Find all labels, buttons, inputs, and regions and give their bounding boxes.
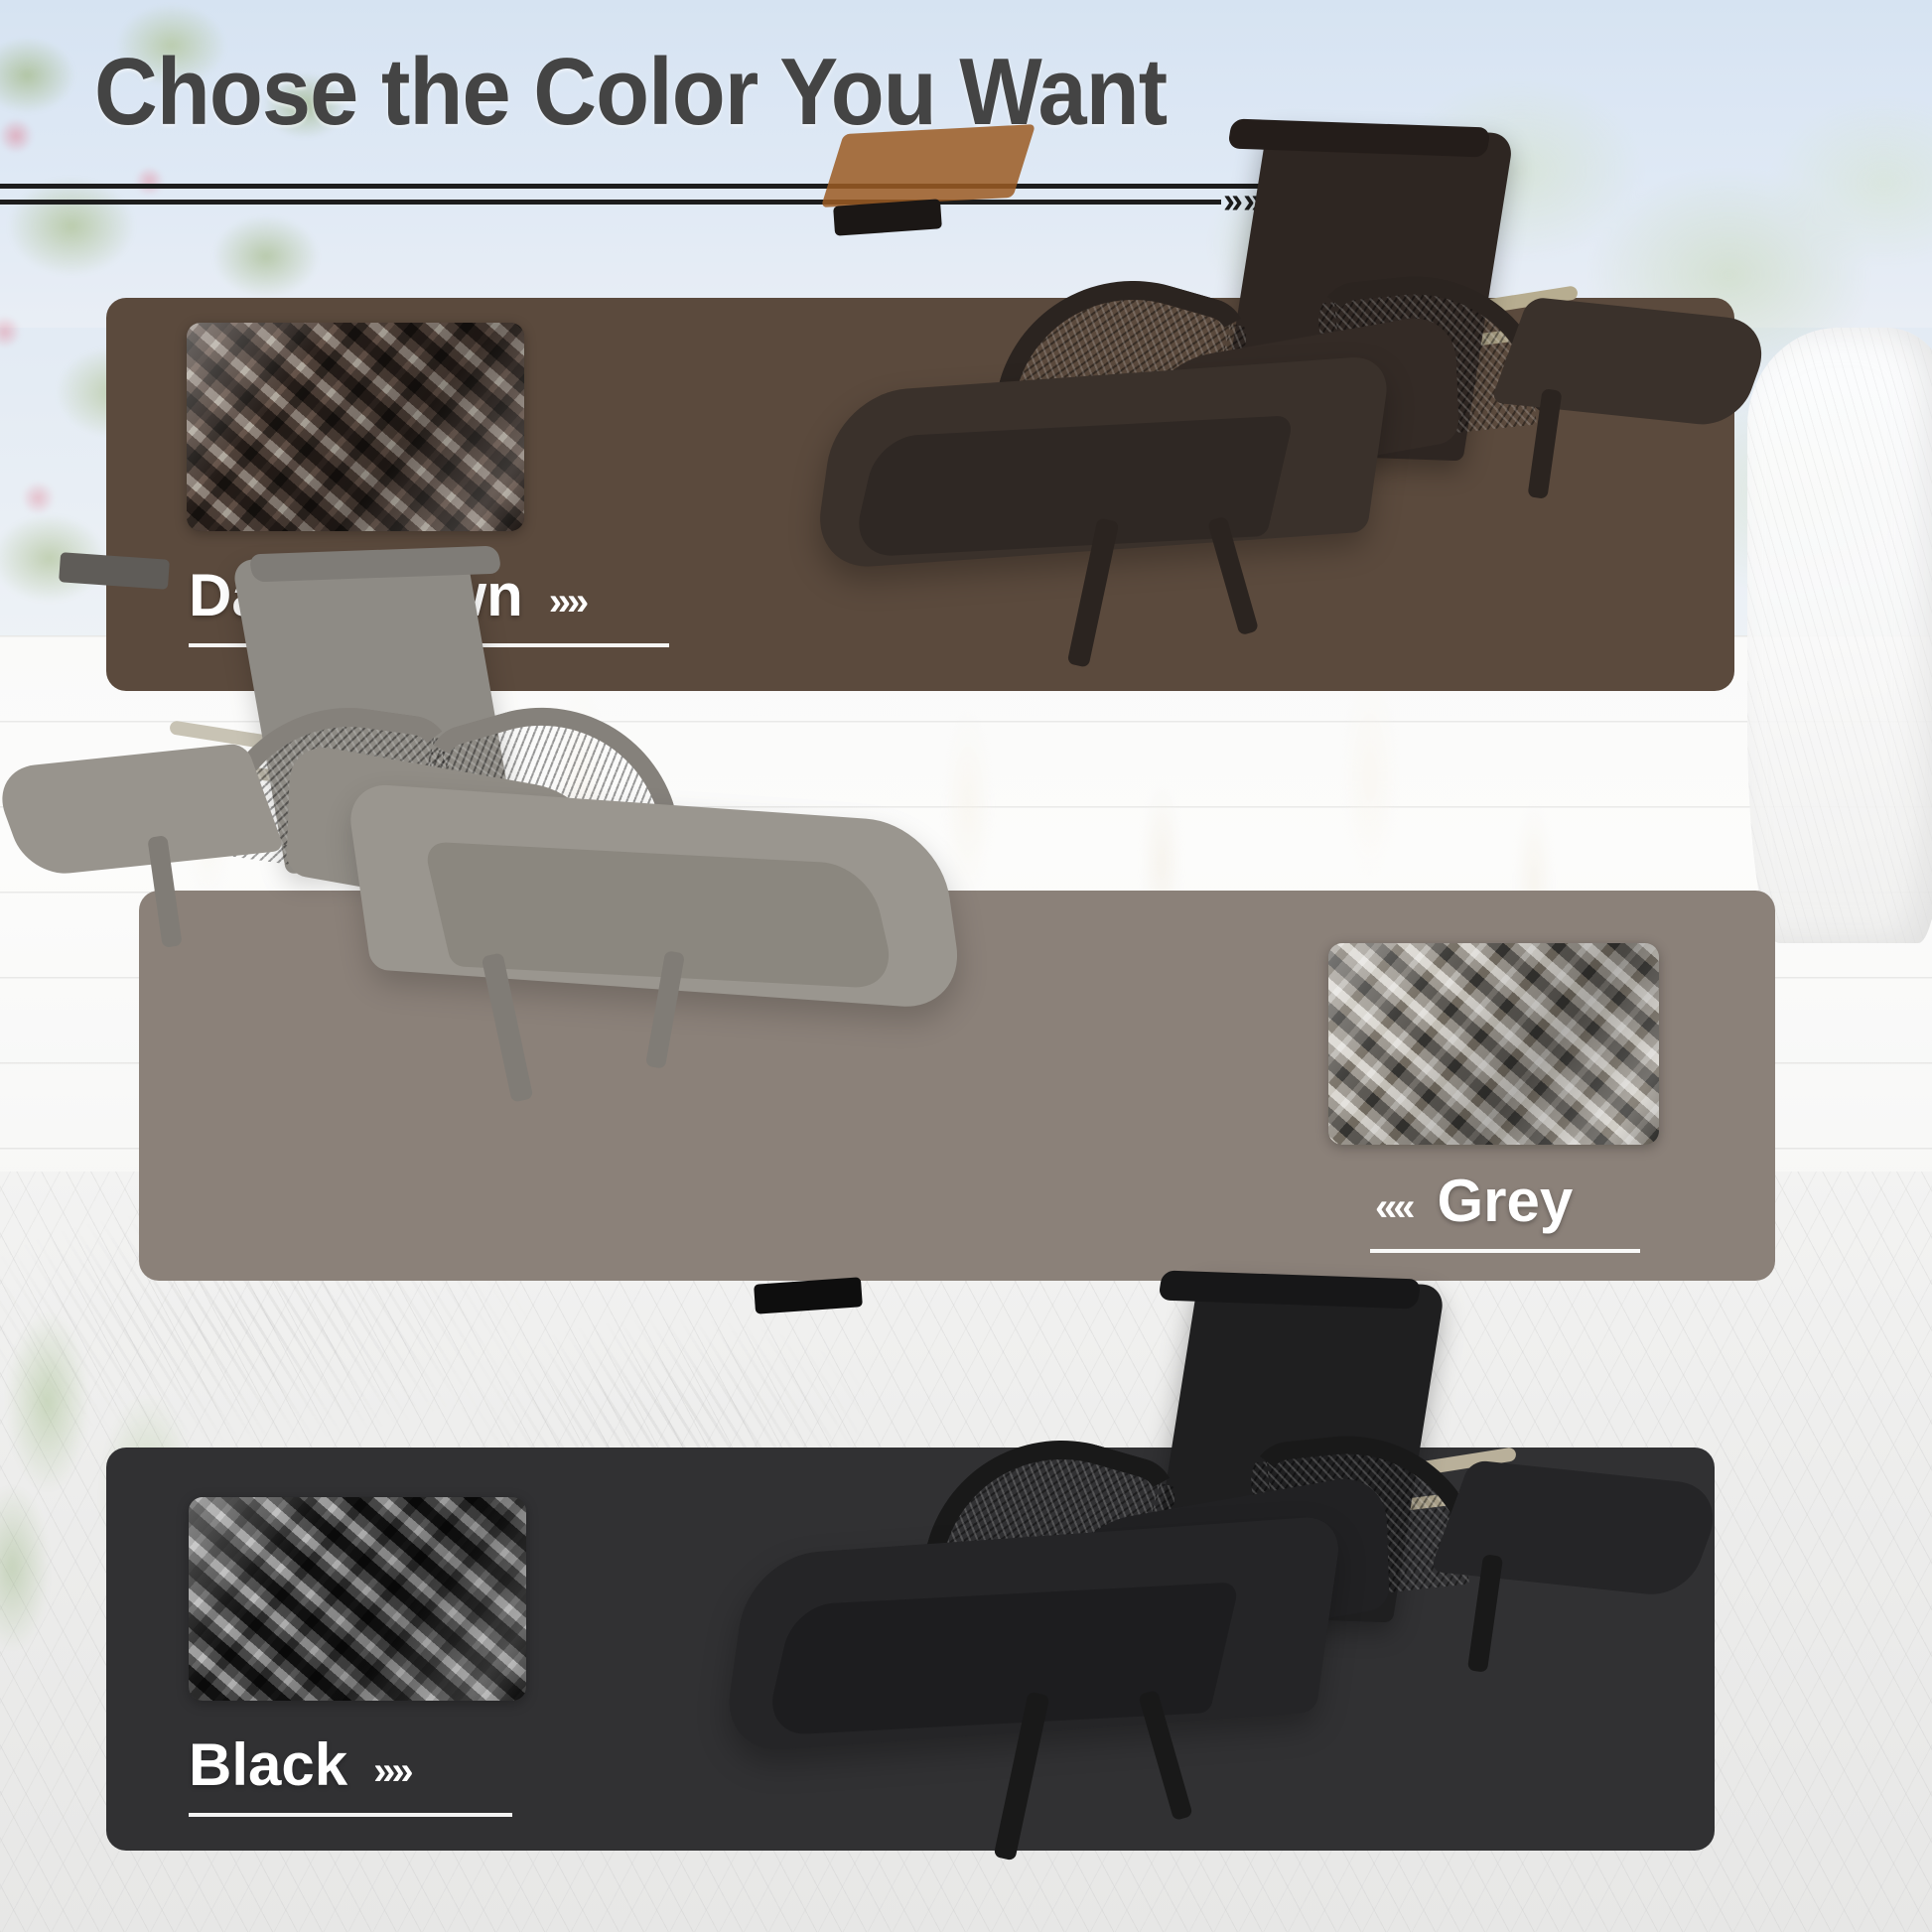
infographic-stage: Chose the Color You Want »» Dark Brown »…	[0, 0, 1932, 1932]
chair-seat-lower	[763, 1582, 1240, 1735]
chevron-right-icon: »»	[373, 1751, 410, 1795]
chair-recline-clamp	[59, 552, 170, 590]
product-image-grey	[60, 556, 1112, 1092]
swatch-grey[interactable]	[1328, 943, 1659, 1145]
swatch-black[interactable]	[189, 1497, 526, 1701]
wicker-gloss	[1328, 943, 1659, 1145]
option-label-black: Black »»	[189, 1735, 410, 1795]
chair-wood-panel	[821, 124, 1035, 207]
option-label-text: Grey	[1438, 1172, 1574, 1231]
chevron-left-icon: ««	[1375, 1187, 1412, 1231]
option-label-grey: «« Grey	[1375, 1172, 1573, 1231]
wicker-gloss	[187, 323, 524, 531]
wicker-gloss	[189, 1497, 526, 1701]
chair-recline-clamp	[833, 199, 942, 235]
label-underline	[1370, 1249, 1640, 1253]
label-underline	[189, 1813, 512, 1817]
product-image-black	[755, 1281, 1807, 1896]
option-label-text: Black	[189, 1735, 347, 1795]
chair-recline-clamp	[754, 1277, 863, 1313]
swatch-dark-brown[interactable]	[187, 323, 524, 531]
